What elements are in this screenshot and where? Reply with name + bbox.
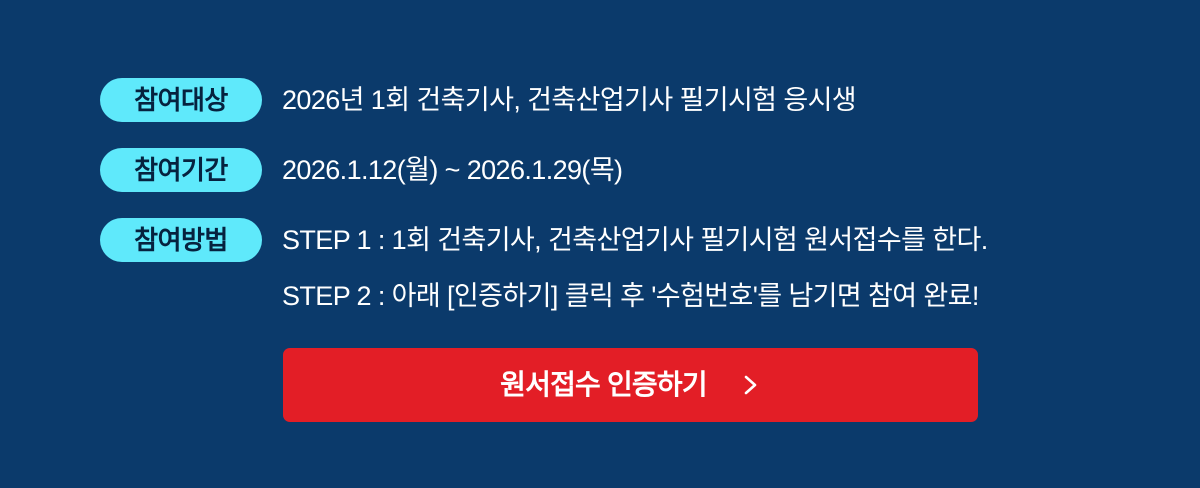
badge-method: 참여방법 bbox=[100, 218, 262, 262]
info-row-target-body: 2026년 1회 건축기사, 건축산업기사 필기시험 응시생 bbox=[282, 78, 1120, 120]
chevron-right-icon bbox=[741, 371, 761, 399]
info-row-method-step-2: STEP 2 : 아래 [인증하기] 클릭 후 '수험번호'를 남기면 참여 완… bbox=[282, 276, 1120, 316]
promo-banner: 참여대상 2026년 1회 건축기사, 건축산업기사 필기시험 응시생 참여기간… bbox=[0, 0, 1200, 488]
info-row-method-body: STEP 1 : 1회 건축기사, 건축산업기사 필기시험 원서접수를 한다. … bbox=[282, 218, 1120, 316]
info-row-period-body: 2026.1.12(월) ~ 2026.1.29(목) bbox=[282, 148, 1120, 190]
badge-period: 참여기간 bbox=[100, 148, 262, 192]
info-row-target-line-1: 2026년 1회 건축기사, 건축산업기사 필기시험 응시생 bbox=[282, 80, 1120, 120]
verify-application-button[interactable]: 원서접수 인증하기 bbox=[283, 348, 978, 422]
info-row-method: 참여방법 STEP 1 : 1회 건축기사, 건축산업기사 필기시험 원서접수를… bbox=[100, 218, 1120, 316]
badge-target: 참여대상 bbox=[100, 78, 262, 122]
info-row-target: 참여대상 2026년 1회 건축기사, 건축산업기사 필기시험 응시생 bbox=[100, 78, 1120, 122]
verify-application-button-label: 원서접수 인증하기 bbox=[500, 371, 707, 399]
info-row-period: 참여기간 2026.1.12(월) ~ 2026.1.29(목) bbox=[100, 148, 1120, 192]
info-row-method-step-1: STEP 1 : 1회 건축기사, 건축산업기사 필기시험 원서접수를 한다. bbox=[282, 220, 1120, 260]
info-list: 참여대상 2026년 1회 건축기사, 건축산업기사 필기시험 응시생 참여기간… bbox=[100, 78, 1120, 316]
info-row-period-line-1: 2026.1.12(월) ~ 2026.1.29(목) bbox=[282, 150, 1120, 190]
cta-container: 원서접수 인증하기 bbox=[283, 348, 978, 422]
